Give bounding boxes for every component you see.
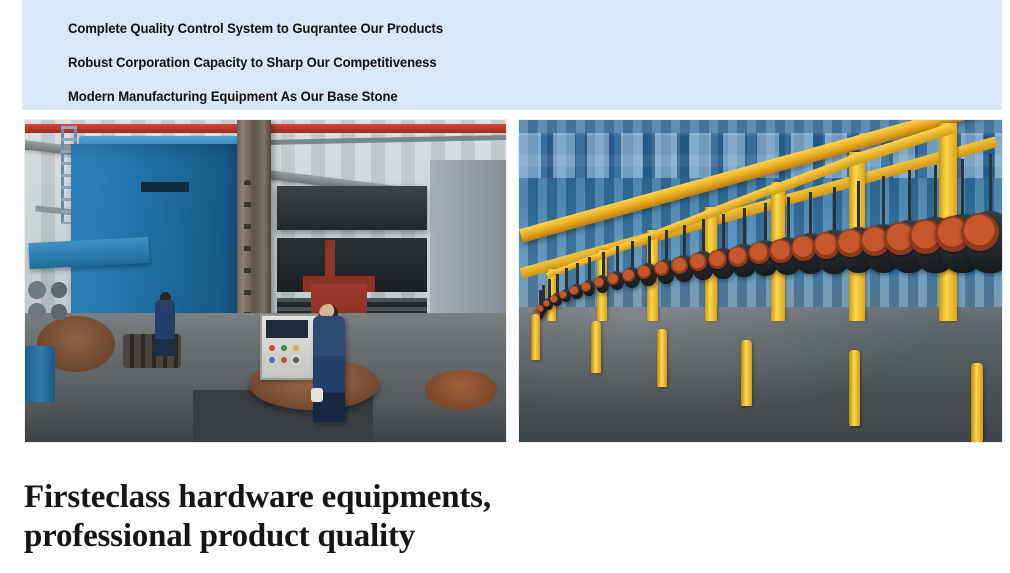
headline-line-1: Firsteclass hardware equipments, bbox=[24, 478, 724, 517]
machine-shop-scene bbox=[25, 120, 506, 442]
valve-flange-face bbox=[622, 269, 635, 282]
pipe-ends bbox=[25, 280, 71, 334]
blue-barrel bbox=[25, 346, 55, 402]
valve-hanger-chain bbox=[833, 187, 836, 234]
valve-hanger-chain bbox=[683, 225, 686, 259]
valve-flange-face bbox=[708, 250, 727, 269]
valve-flange-face bbox=[581, 282, 591, 292]
valve-flange-face bbox=[728, 246, 749, 267]
machine-vent-slot bbox=[141, 182, 189, 192]
valve-hanger-chain bbox=[934, 165, 937, 221]
valve-flange-face bbox=[537, 305, 544, 312]
valve-hanger-chain bbox=[665, 230, 668, 263]
control-panel-screen bbox=[266, 320, 308, 338]
background-worker bbox=[155, 300, 175, 356]
valve-flange-face bbox=[569, 286, 578, 295]
foreground-worker bbox=[313, 316, 345, 422]
floor-bollard bbox=[531, 314, 540, 360]
slogan-banner: Complete Quality Control System to Guqra… bbox=[22, 0, 1002, 110]
valve-hanger-chain bbox=[764, 203, 767, 244]
slogan-line-3: Modern Manufacturing Equipment As Our Ba… bbox=[68, 80, 974, 114]
valve-hanger-chain bbox=[722, 214, 725, 252]
valve-flange-face bbox=[607, 273, 619, 285]
slogan-line-1: Complete Quality Control System to Guqra… bbox=[68, 12, 974, 46]
floor-bollard bbox=[591, 321, 601, 373]
photo-row bbox=[24, 119, 1003, 443]
valve-hanger-chain bbox=[961, 159, 964, 218]
paint-line-scene bbox=[519, 120, 1002, 442]
floor-bollard bbox=[971, 363, 983, 442]
rusty-ring-workpiece-right bbox=[425, 370, 497, 410]
paint-line-photo bbox=[518, 119, 1003, 443]
valve-hanger-chain bbox=[882, 176, 885, 228]
valve-flange-face bbox=[689, 253, 707, 271]
conveyor-cross-girder bbox=[847, 123, 953, 167]
floor-bollard bbox=[741, 340, 752, 406]
valve-flange-face bbox=[550, 295, 558, 303]
control-panel-buttons bbox=[266, 342, 308, 370]
page-title: Firsteclass hardware equipments, profess… bbox=[24, 478, 724, 556]
worker-glove bbox=[311, 388, 323, 402]
headline-line-2: professional product quality bbox=[24, 517, 724, 556]
machine-shop-photo bbox=[24, 119, 507, 443]
valve-hanger-chain bbox=[989, 154, 992, 215]
valve-hanger-chain bbox=[743, 208, 746, 248]
slogan-line-2: Robust Corporation Capacity to Sharp Our… bbox=[68, 46, 974, 80]
press-upper-head bbox=[277, 186, 427, 230]
valve-hanger-chain bbox=[702, 219, 705, 255]
valve-hanger-chain bbox=[908, 170, 911, 224]
conveyor-structure bbox=[519, 120, 1002, 442]
valve-flange-face bbox=[769, 239, 793, 263]
valve-hanger-chain bbox=[787, 197, 790, 240]
floor-bollard bbox=[849, 350, 860, 426]
valve-flange-face bbox=[654, 261, 669, 276]
valve-hanger-chain bbox=[857, 181, 860, 231]
slide-page: Complete Quality Control System to Guqra… bbox=[0, 0, 1010, 573]
valve-hanger-chain bbox=[809, 192, 812, 237]
valve-flange-face bbox=[671, 257, 687, 273]
floor-bollard bbox=[657, 329, 667, 387]
conveyor-cross-girder bbox=[769, 153, 861, 195]
